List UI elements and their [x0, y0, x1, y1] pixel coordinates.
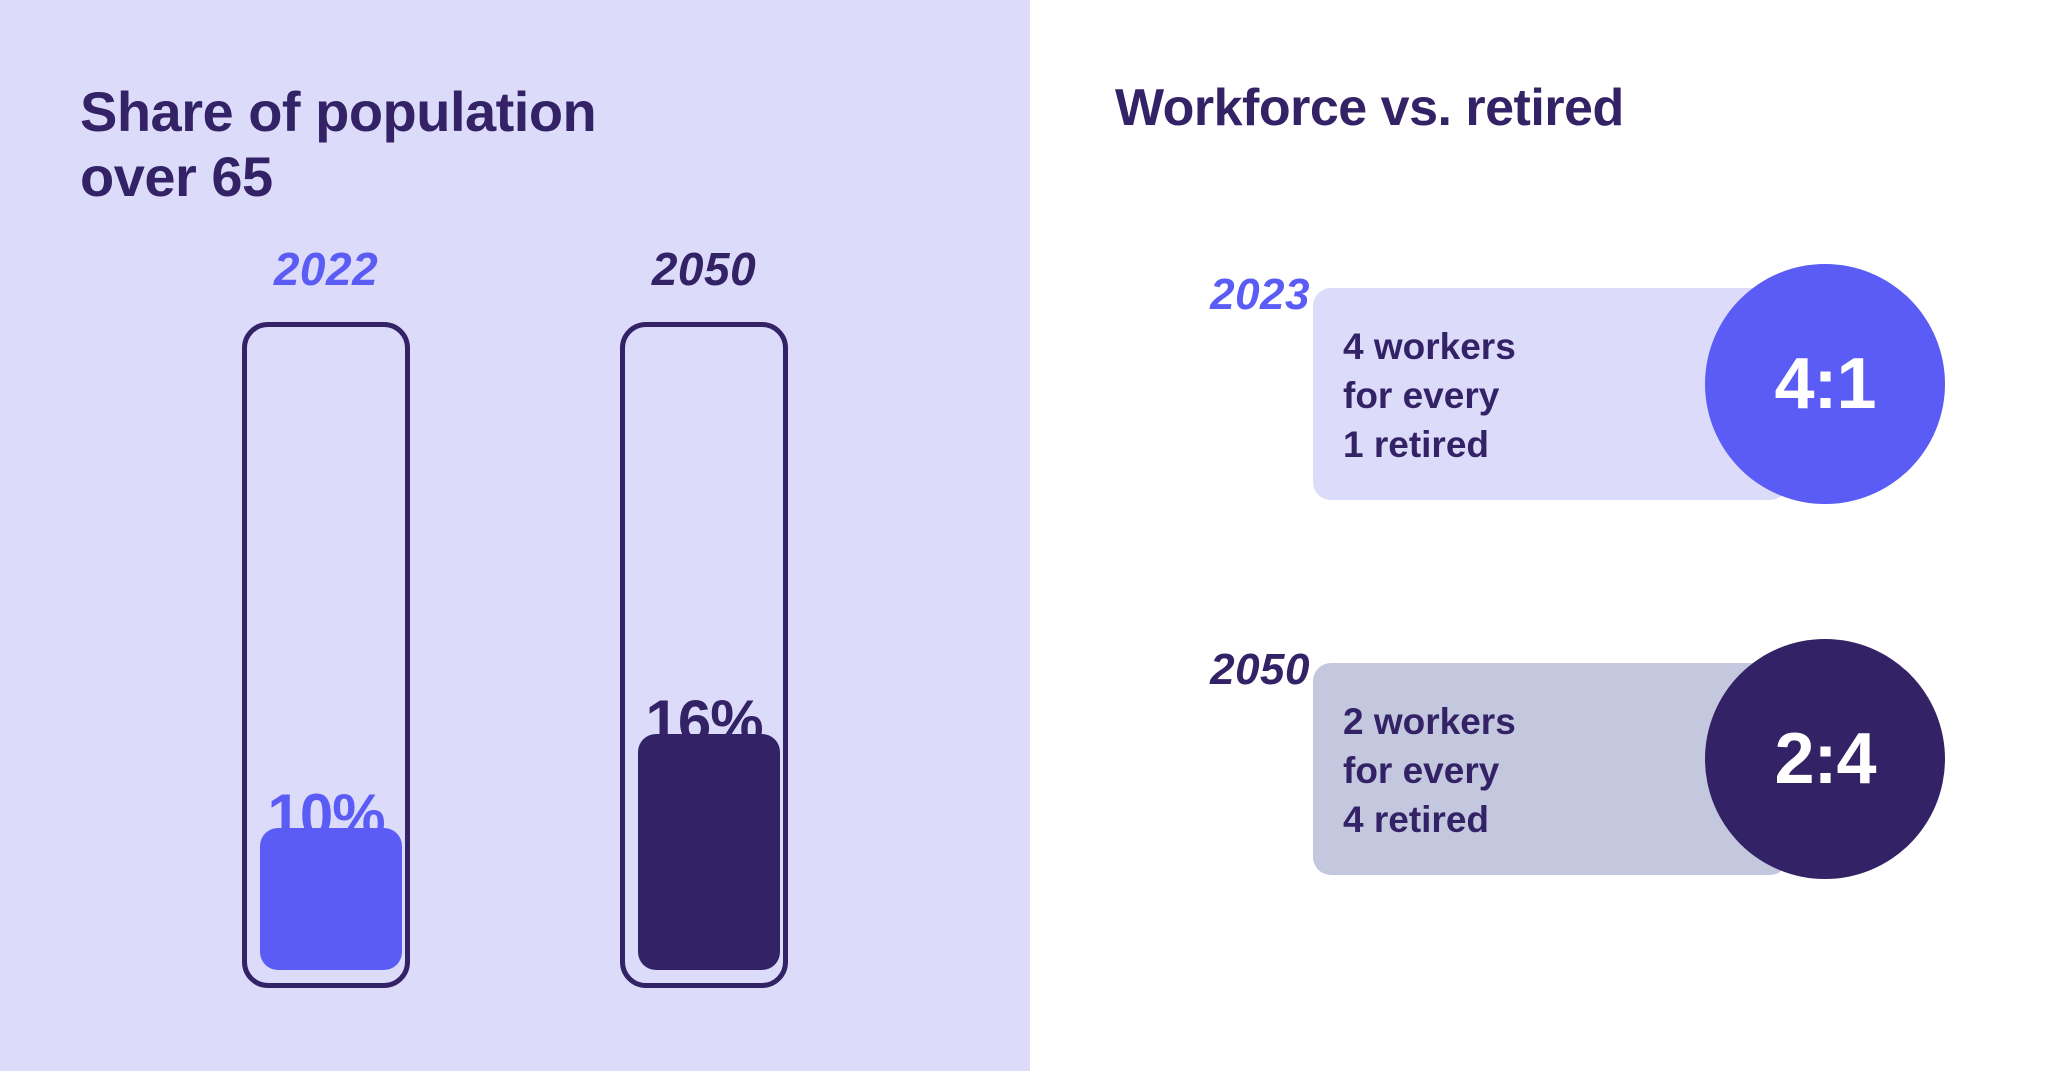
bar-value-label-2050: 16% — [620, 692, 788, 752]
left-panel-title: Share of population over 65 — [80, 80, 800, 210]
ratio-row-2050: 2050 2 workers for every 4 retired 2:4 — [1030, 630, 2048, 890]
ratio-row-2023: 2023 4 workers for every 1 retired 4:1 — [1030, 255, 2048, 515]
ratio-year-label-2050: 2050 — [1070, 648, 1310, 692]
bar-outline-2050 — [620, 322, 788, 988]
bar-fill-2050 — [638, 734, 780, 970]
ratio-badge-2023: 4:1 — [1705, 264, 1945, 504]
bar-year-label-2022: 2022 — [242, 246, 410, 292]
bar-outline-2022 — [242, 322, 410, 988]
right-panel: Workforce vs. retired 2023 4 workers for… — [1030, 0, 2048, 1071]
bar-value-label-2022: 10% — [242, 786, 410, 846]
left-panel: Share of population over 65 2022 10% 205… — [0, 0, 1030, 1071]
bar-fill-2022 — [260, 828, 402, 970]
ratio-badge-2050: 2:4 — [1705, 639, 1945, 879]
right-panel-title: Workforce vs. retired — [1115, 80, 1624, 137]
ratio-description-2023: 4 workers for every 1 retired — [1343, 322, 1516, 470]
ratio-description-2050: 2 workers for every 4 retired — [1343, 697, 1516, 845]
ratio-year-label-2023: 2023 — [1070, 273, 1310, 317]
bar-year-label-2050: 2050 — [620, 246, 788, 292]
infographic-root: Share of population over 65 2022 10% 205… — [0, 0, 2048, 1071]
